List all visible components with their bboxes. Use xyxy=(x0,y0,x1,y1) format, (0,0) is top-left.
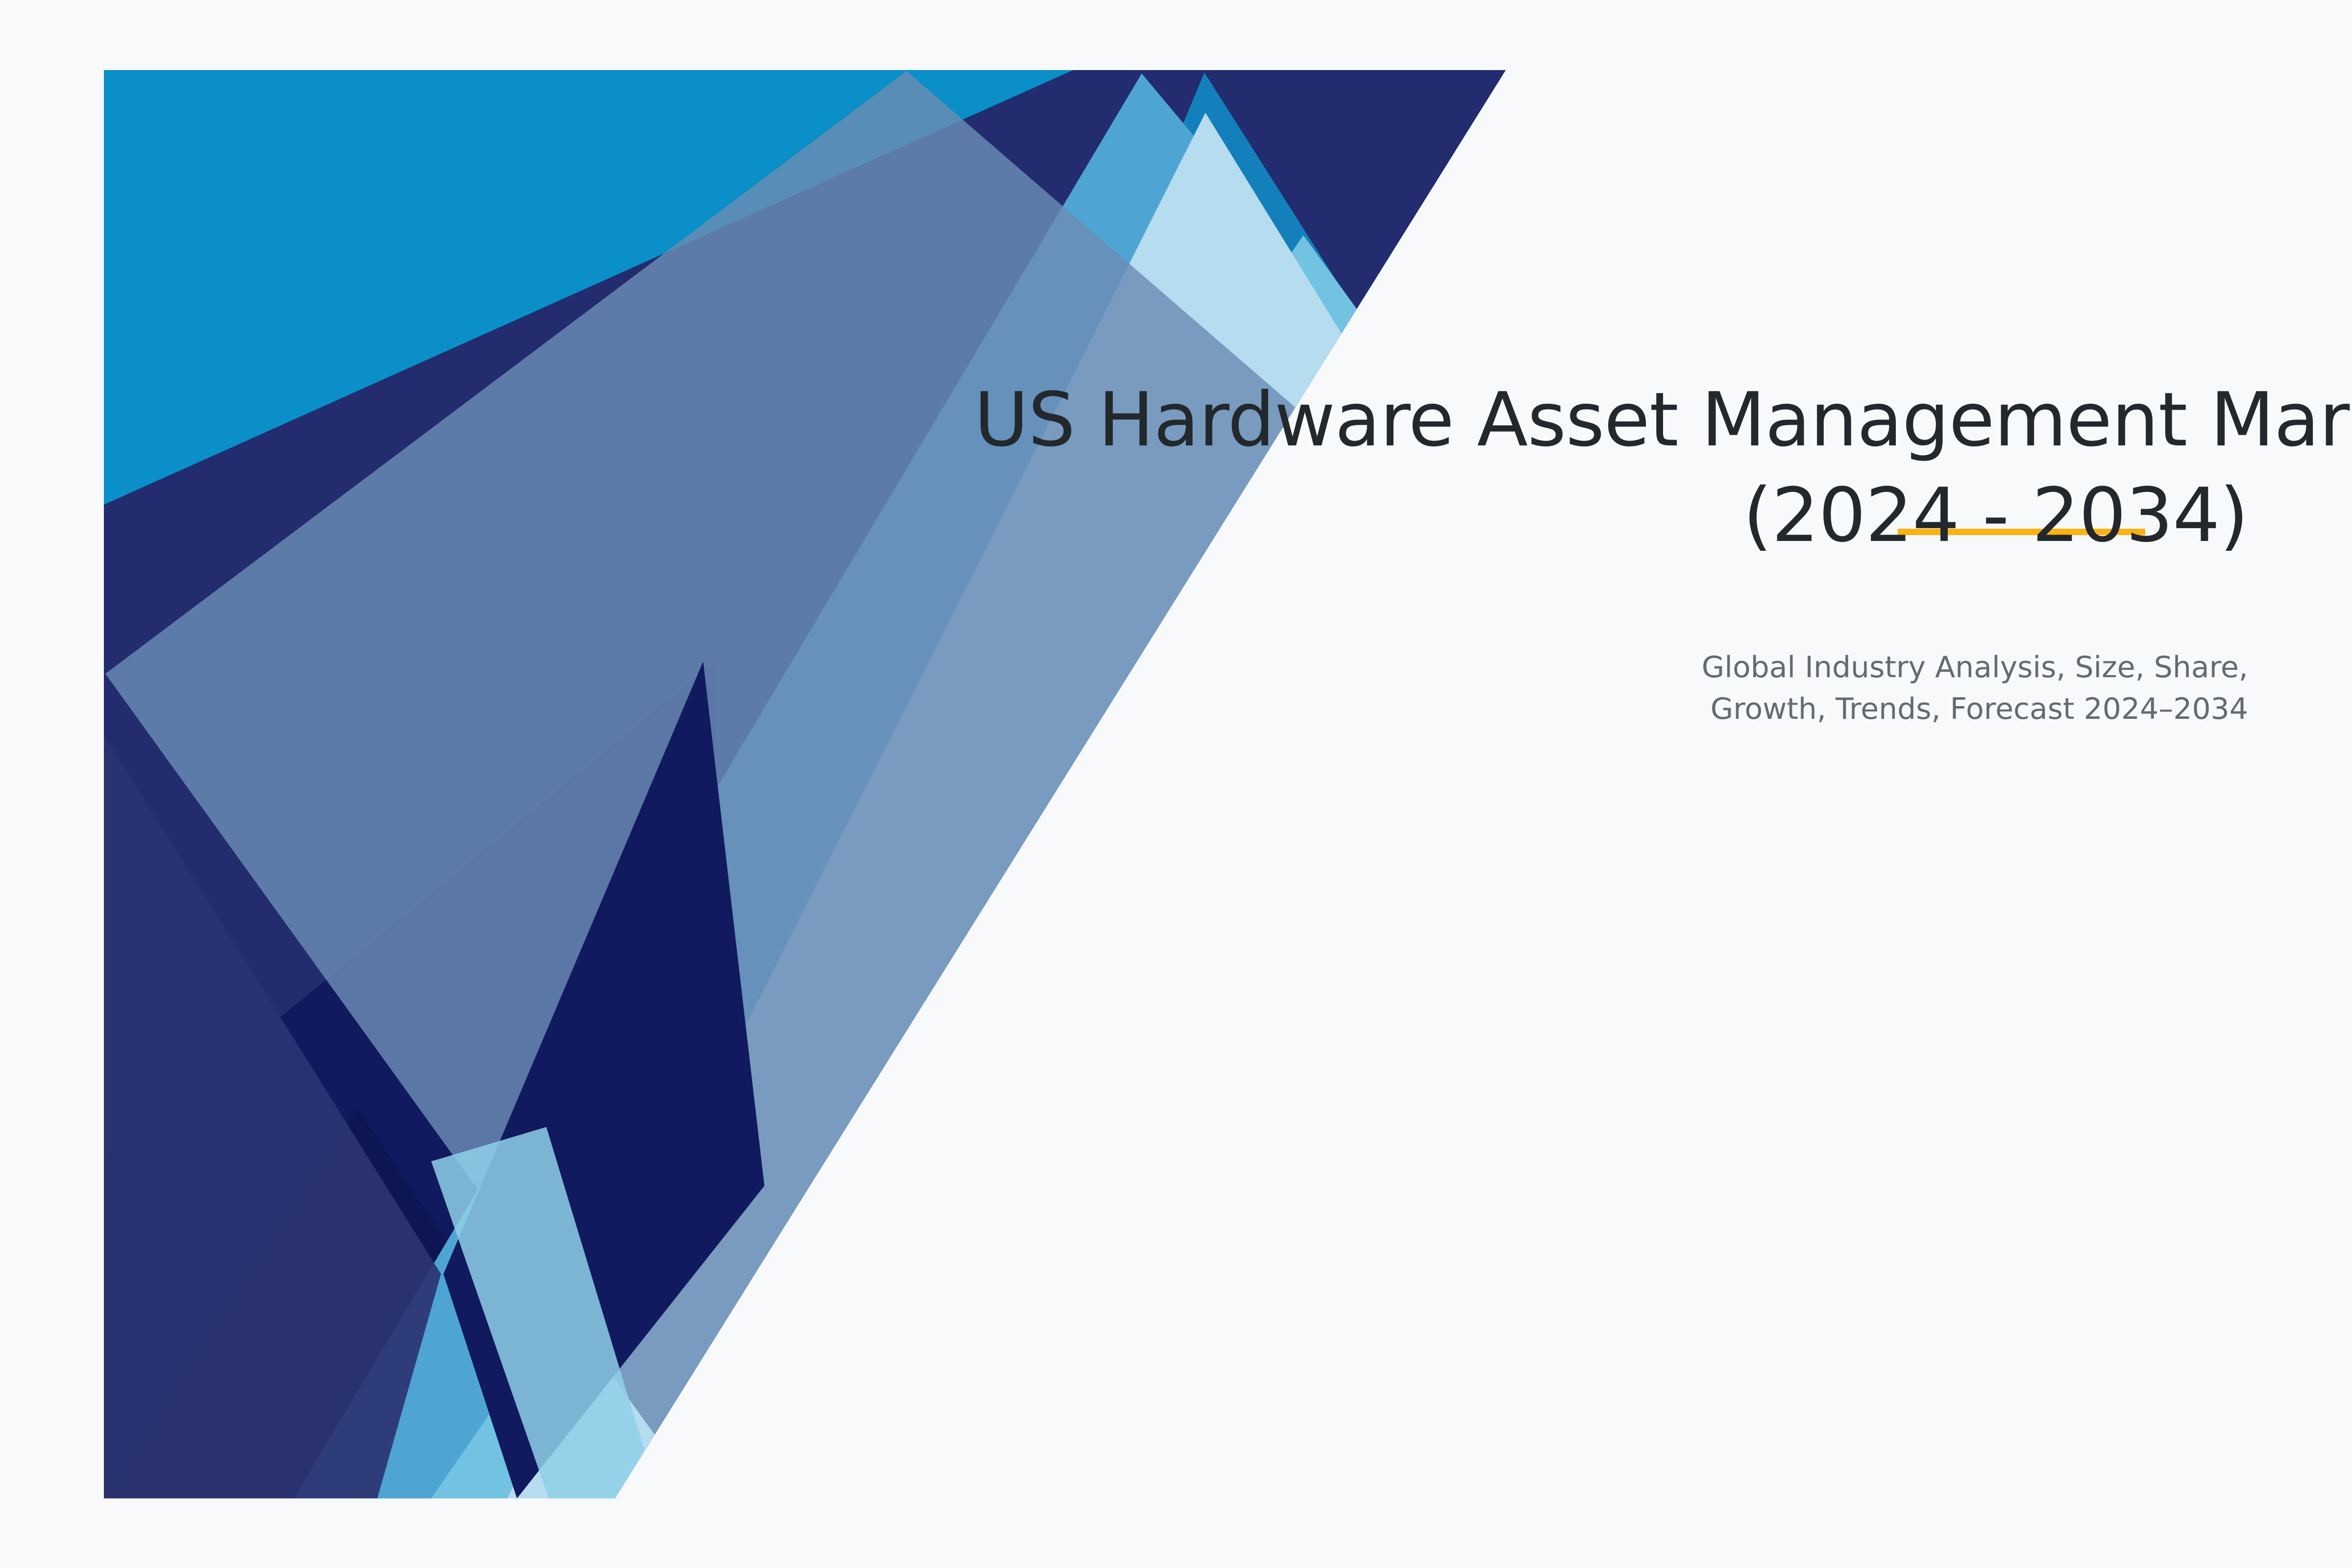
page-subtitle-line-2: Growth, Trends, Forecast 2024–2034 xyxy=(1582,688,2248,730)
page-subtitle-line-1: Global Industry Analysis, Size, Share, xyxy=(1582,647,2248,688)
page-title-line-2: (2024 - 2034) xyxy=(974,468,2248,563)
page-title-line-1: US Hardware Asset Management Market xyxy=(974,372,2248,468)
page-subtitle: Global Industry Analysis, Size, Share, G… xyxy=(1582,647,2248,730)
abstract-geometric-cover-graphic xyxy=(0,0,2352,1568)
cover-title-block: US Hardware Asset Management Market (202… xyxy=(974,372,2248,563)
report-cover-page: US Hardware Asset Management Market (202… xyxy=(0,0,2352,1568)
